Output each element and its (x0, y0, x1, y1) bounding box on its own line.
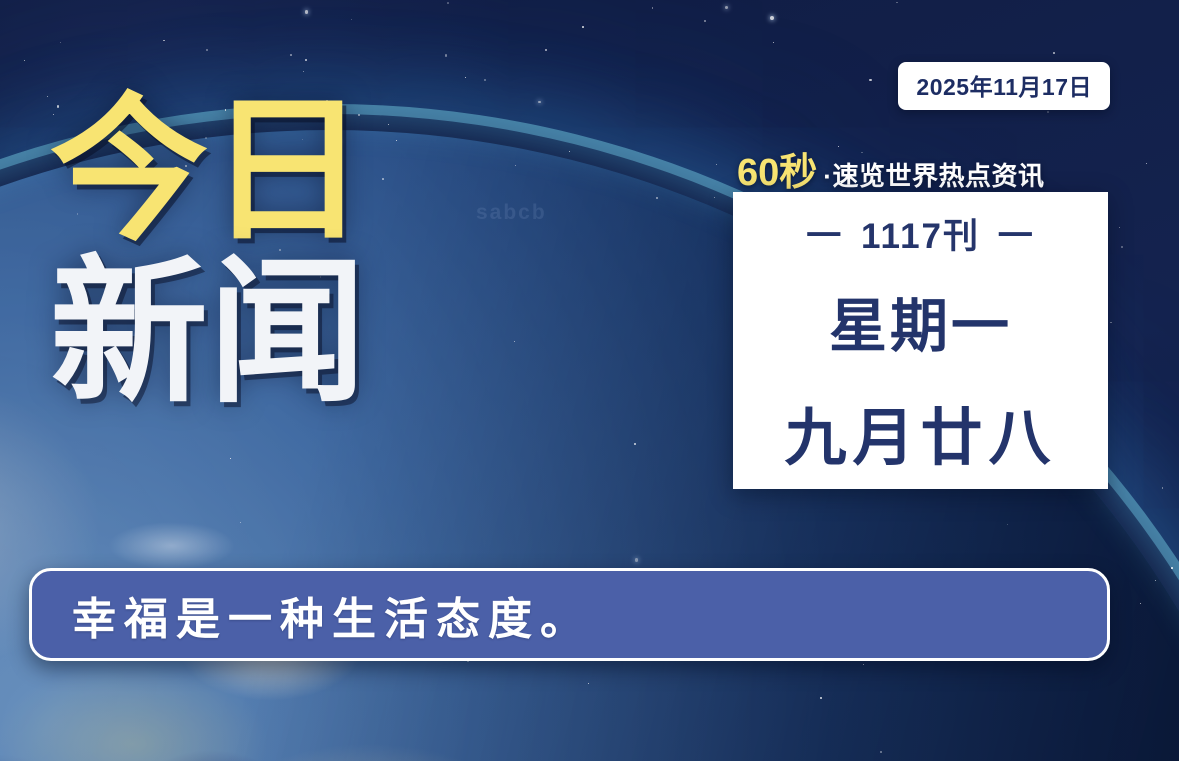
tagline-seconds: 60秒 (737, 141, 817, 196)
star (230, 458, 231, 459)
headline-line-news: 新闻 (50, 258, 367, 408)
star (773, 42, 774, 43)
star (305, 10, 309, 14)
star (716, 164, 717, 165)
star (465, 77, 466, 78)
quote-text: 幸福是一种生活态度。 (32, 583, 592, 647)
star (206, 49, 208, 51)
star (1053, 52, 1055, 54)
issue-dash-right: 一 (992, 217, 1041, 256)
star (396, 140, 398, 142)
tagline: 60秒 ·速览世界热点资讯 (737, 141, 1109, 196)
star (896, 2, 898, 4)
star (538, 101, 540, 103)
issue-number-row: 一 1117刊 一 (800, 208, 1041, 259)
headline-line-today: 今日 (50, 96, 367, 246)
lunar-date-label: 九月廿八 (784, 387, 1056, 477)
star (1119, 227, 1121, 229)
star (1146, 163, 1147, 164)
star (484, 79, 486, 81)
news-poster: sabcb 今日 新闻 2025年11月17日 60秒 ·速览世界热点资讯 一 … (0, 0, 1179, 761)
background-watermark: sabcb (476, 201, 547, 225)
star (1047, 111, 1049, 113)
star (725, 6, 728, 9)
star (656, 197, 658, 199)
star (1007, 524, 1008, 525)
star (880, 751, 882, 753)
star (770, 16, 774, 20)
star (1162, 487, 1163, 488)
star (24, 60, 25, 61)
star (445, 54, 447, 56)
quote-bar: 幸福是一种生活态度。 (29, 568, 1110, 661)
star (60, 42, 62, 44)
star (305, 59, 307, 61)
star (1110, 322, 1112, 324)
star (635, 558, 638, 561)
star (514, 341, 515, 342)
star (714, 197, 715, 198)
star (1121, 246, 1123, 248)
star (704, 20, 706, 22)
star (163, 40, 165, 42)
star (582, 26, 584, 28)
page-title: 今日 新闻 (50, 96, 367, 408)
star (240, 522, 241, 523)
star (652, 7, 654, 9)
date-badge: 2025年11月17日 (898, 62, 1110, 110)
star (569, 151, 570, 152)
star (515, 165, 516, 166)
star (1171, 567, 1173, 569)
tagline-description: ·速览世界热点资讯 (823, 156, 1044, 193)
star (588, 683, 589, 684)
star (1140, 603, 1141, 604)
date-info-card: 一 1117刊 一 星期一 九月廿八 (733, 192, 1108, 489)
star (447, 2, 449, 4)
star (382, 178, 384, 180)
star (388, 124, 389, 125)
star (863, 664, 864, 665)
weekday-label: 星期一 (829, 279, 1012, 363)
star (634, 443, 636, 445)
star (869, 79, 871, 81)
star (351, 19, 352, 20)
star (47, 96, 49, 98)
issue-number: 1117刊 (861, 217, 980, 256)
star (545, 49, 547, 51)
issue-dash-left: 一 (800, 217, 849, 256)
star (820, 697, 822, 699)
star (303, 71, 304, 72)
star (1155, 580, 1156, 581)
star (290, 54, 292, 56)
